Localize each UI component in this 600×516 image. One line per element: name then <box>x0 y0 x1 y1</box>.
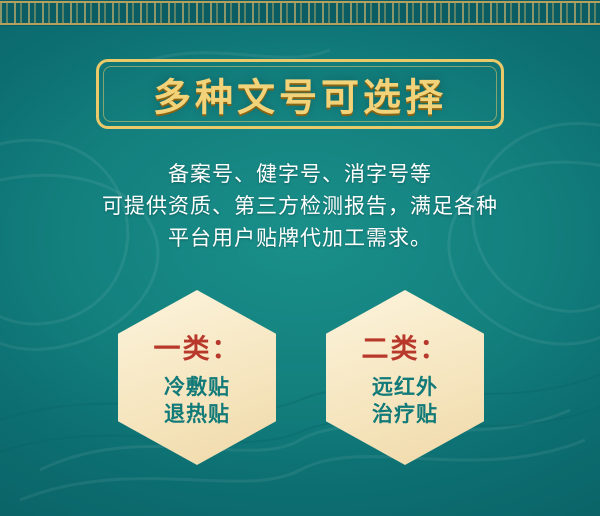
category-card-2-item-2: 治疗贴 <box>372 401 438 428</box>
category-card-2-item-1: 远红外 <box>372 374 438 401</box>
category-card-2-heading: 二类： <box>362 327 449 366</box>
page-title: 多种文号可选择 <box>99 67 501 122</box>
category-cards: 一类： 冷敷贴 退热贴 二类： 远红外 治疗贴 <box>0 290 600 465</box>
category-card-2-content: 二类： 远红外 治疗贴 <box>326 290 484 465</box>
category-card-1-heading: 一类： <box>154 327 241 366</box>
category-card-1-content: 一类： 冷敷贴 退热贴 <box>118 290 276 465</box>
category-card-2[interactable]: 二类： 远红外 治疗贴 <box>326 290 484 465</box>
category-card-1-item-1: 冷敷贴 <box>164 374 230 401</box>
category-card-1[interactable]: 一类： 冷敷贴 退热贴 <box>118 290 276 465</box>
title-plaque: 多种文号可选择 <box>96 59 504 129</box>
poster-root: 多种文号可选择 备案号、健字号、消字号等 可提供资质、第三方检测报告，满足各种 … <box>0 0 600 516</box>
band-pattern <box>0 3 600 23</box>
description-block: 备案号、健字号、消字号等 可提供资质、第三方检测报告，满足各种 平台用户贴牌代加… <box>30 158 570 254</box>
description-line-2: 可提供资质、第三方检测报告，满足各种 <box>30 190 570 222</box>
description-line-3: 平台用户贴牌代加工需求。 <box>30 222 570 254</box>
top-ornament-band <box>0 0 600 26</box>
description-line-1: 备案号、健字号、消字号等 <box>30 158 570 190</box>
category-card-1-item-2: 退热贴 <box>164 401 230 428</box>
band-edge-bottom <box>0 23 600 25</box>
